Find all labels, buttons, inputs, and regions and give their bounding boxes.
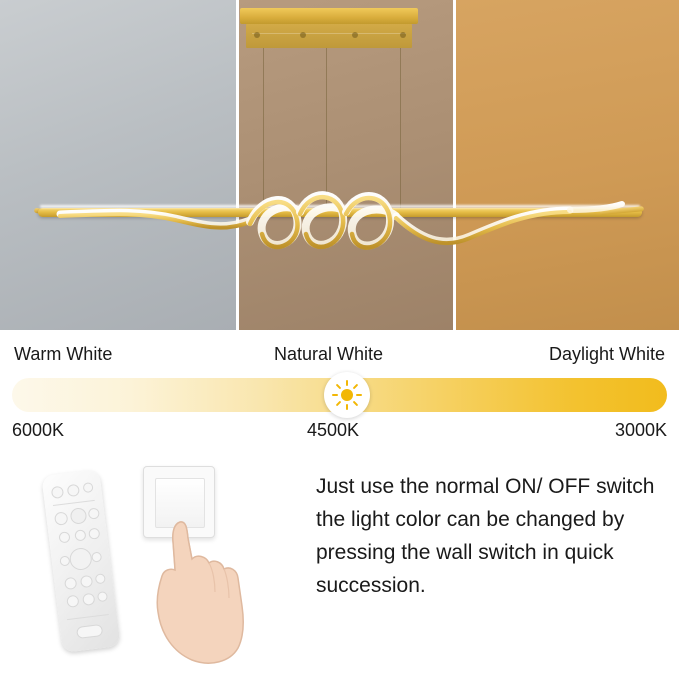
lamp-swirl-shape: [0, 160, 679, 285]
mount-screw: [400, 32, 406, 38]
remote-dial: [68, 547, 93, 572]
remote-button: [83, 482, 94, 493]
remote-button: [97, 591, 108, 602]
led-pendant-lamp: [0, 160, 679, 285]
color-temperature-section: Warm White Natural White Daylight White: [0, 330, 679, 448]
ceiling-mount-plate: [240, 8, 418, 24]
value-4500k: 4500K: [307, 420, 359, 441]
remote-button: [91, 551, 102, 562]
remote-button: [67, 484, 80, 497]
pointing-hand: [118, 512, 253, 672]
remote-button: [74, 529, 86, 541]
usage-instruction-section: Just use the normal ON/ OFF switch the l…: [0, 460, 679, 670]
product-infographic: Warm White Natural White Daylight White: [0, 0, 679, 681]
sun-icon: [332, 380, 362, 410]
label-daylight-white: Daylight White: [549, 344, 665, 365]
sun-core: [341, 389, 353, 401]
remote-divider: [53, 500, 95, 506]
remote-button: [88, 507, 100, 519]
remote-button: [76, 624, 103, 639]
label-natural-white: Natural White: [274, 344, 383, 365]
remote-button: [82, 593, 95, 606]
remote-button: [80, 575, 93, 588]
color-temperature-slider[interactable]: [12, 378, 667, 412]
label-warm-white: Warm White: [14, 344, 112, 365]
mount-screw: [300, 32, 306, 38]
remote-button: [59, 555, 70, 566]
remote-button: [95, 573, 106, 584]
remote-divider: [67, 614, 109, 620]
remote-button: [51, 486, 64, 499]
mount-screw: [352, 32, 358, 38]
remote-button: [54, 511, 68, 525]
value-3000k: 3000K: [615, 420, 667, 441]
ceiling-mount-box: [246, 24, 412, 48]
color-temperature-labels: Warm White Natural White Daylight White: [12, 344, 667, 374]
color-temperature-values: 6000K 4500K 3000K: [12, 420, 667, 448]
remote-power-button: [70, 507, 88, 525]
mount-screw: [254, 32, 260, 38]
instruction-text: Just use the normal ON/ OFF switch the l…: [316, 470, 666, 602]
color-temperature-knob[interactable]: [324, 372, 370, 418]
remote-button: [66, 595, 79, 608]
remote-button: [88, 528, 100, 540]
value-6000k: 6000K: [12, 420, 64, 441]
remote-button: [64, 577, 77, 590]
remote-button: [58, 531, 70, 543]
remote-control: [41, 469, 120, 653]
product-photo-strip: [0, 0, 679, 330]
